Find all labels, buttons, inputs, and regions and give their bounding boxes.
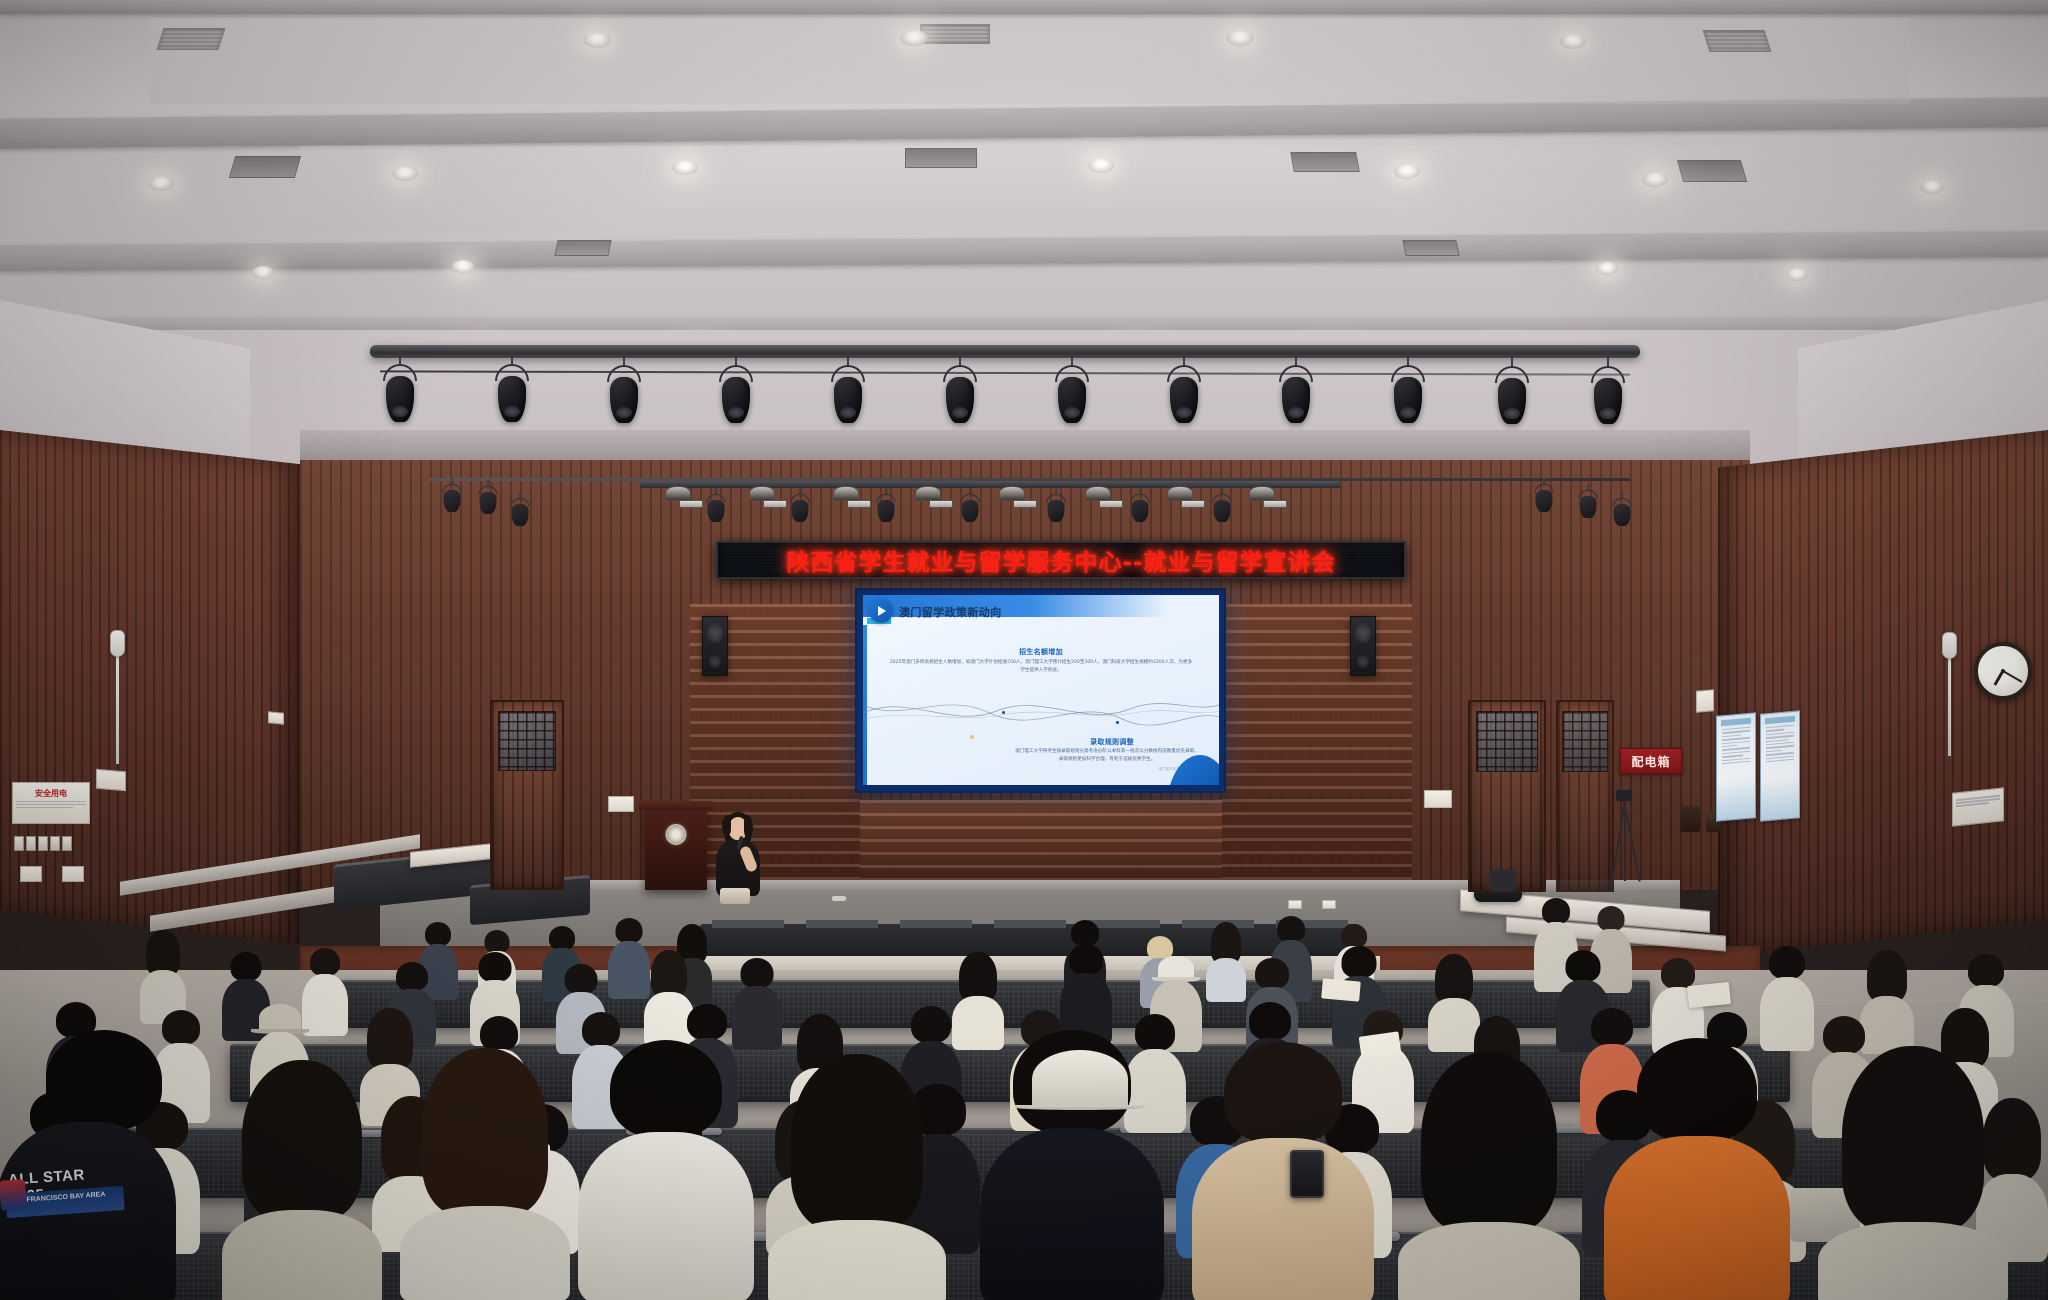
stage-wood-slats-right: [1222, 604, 1412, 880]
wall-speaker-left: [110, 630, 125, 657]
paper-handout: [1321, 978, 1361, 1001]
slide-title: 澳门留学政策新动向: [899, 604, 1002, 620]
ceiling-slab-1: [150, 18, 1910, 104]
ac-grille: [229, 156, 301, 178]
slide-section-2-heading: 录取规则调整: [1029, 737, 1195, 747]
audience-member-foreground: [1818, 1046, 2008, 1300]
ac-grille: [1677, 160, 1747, 182]
right-notice-sign: [1952, 787, 2004, 826]
ceiling-downlight: [452, 260, 474, 273]
ceiling-downlight: [1226, 30, 1254, 46]
stage-small-sign-right: [1424, 790, 1452, 808]
audience-member-with-cap: [1020, 1050, 1140, 1160]
wall-speaker-right: [1942, 632, 1957, 659]
ac-grille: [1402, 240, 1459, 256]
info-poster-1: [1716, 712, 1756, 821]
ceiling-downlight: [1596, 262, 1618, 275]
stage-chair-row: [700, 924, 1360, 960]
stage-speaker-left: [702, 616, 728, 676]
ceiling-downlight: [1394, 164, 1420, 179]
wall-clock: [1974, 642, 2032, 700]
stage-outlet: [1288, 900, 1302, 909]
slide-section-1-body: 2025年澳门多所高校招生人数增加，如澳门大学计划招收700人，澳门理工大学预计…: [889, 659, 1193, 675]
ceiling-vent: [1702, 30, 1771, 52]
audience-member-foreground: [578, 1040, 754, 1300]
play-icon: [869, 599, 893, 623]
left-notice-sign: 安全用电: [12, 782, 90, 824]
audience-member: [732, 958, 782, 1048]
audience-member-foreground: [400, 1048, 570, 1300]
stage-chair-back: [806, 920, 878, 928]
camera-tripod: [1606, 790, 1642, 890]
ac-grille: [1290, 152, 1360, 172]
baseball-cap: [1032, 1050, 1128, 1108]
wall-outlet: [1696, 689, 1714, 713]
left-small-sign: [96, 769, 126, 792]
ceiling-downlight: [1560, 34, 1586, 49]
stage-speaker-right: [1350, 616, 1376, 676]
truss-clamps: [370, 338, 1640, 348]
ceiling-downlight: [392, 166, 418, 181]
baseball-cap: [259, 1004, 301, 1032]
left-notice-sign-title: 安全用电: [13, 788, 89, 799]
lectern-top: [639, 801, 713, 810]
audience-member-foreground: [1604, 1038, 1790, 1300]
audience-member: [140, 930, 186, 1022]
wall-outlet-left: [268, 711, 284, 724]
lectern: [645, 806, 707, 890]
slide-section-2-body: 澳门理工大学将考生按录取规则分类考虑分阶公本科第一批次以分数线内前数量优先录取，…: [1013, 748, 1201, 764]
stage-outlet: [1322, 900, 1336, 909]
ceiling-downlight: [900, 30, 928, 46]
ceiling-downlight: [1786, 268, 1808, 281]
led-banner: 陕西省学生就业与留学服务中心--就业与留学宣讲会: [716, 541, 1406, 579]
ceiling-slab-2: [300, 146, 1760, 230]
stage-wood-slats-under-screen: [860, 800, 1222, 882]
stage-chair-back: [994, 920, 1066, 928]
slide-data-point: [1002, 711, 1005, 714]
front-truss-bar: [430, 478, 1630, 481]
presentation-slide: 澳门留学政策新动向 招生名额增加 2025年澳门多所高校招生人数增加，如澳门大学…: [863, 595, 1219, 785]
stage-door-right[interactable]: [1468, 700, 1546, 892]
speaker-pole-right: [1948, 656, 1951, 756]
audience-member-foreground: [1192, 1042, 1374, 1300]
ac-grille: [905, 148, 977, 168]
ceiling-downlight: [583, 32, 611, 48]
audience-member: [1760, 946, 1814, 1050]
bag: [1490, 870, 1516, 892]
ceiling-downlight: [1088, 158, 1114, 173]
ceiling-vent: [156, 28, 225, 50]
audience-member-foreground: [222, 1060, 382, 1300]
slide-data-point-amber: [970, 735, 974, 739]
lighting-truss-front: [640, 480, 1340, 488]
nba-logo-icon: [0, 1179, 27, 1211]
ceiling-downlight: [148, 176, 174, 191]
smartphone: [1290, 1150, 1324, 1198]
speaker-pole-left: [116, 654, 119, 764]
ceiling-downlight: [1920, 180, 1944, 194]
baseball-cap: [1158, 956, 1194, 980]
presenter: [712, 812, 764, 908]
stage-small-sign: [608, 796, 634, 812]
auditorium-scene: 陕西省学生就业与留学服务中心--就业与留学宣讲会 澳门留学政策新动向 招生名额增…: [0, 0, 2048, 1300]
audience-member: [1206, 922, 1246, 1000]
led-banner-text: 陕西省学生就业与留学服务中心--就业与留学宣讲会: [786, 543, 1335, 577]
ceiling-beam-top: [0, 0, 2048, 14]
projection-screen: 澳门留学政策新动向 招生名额增加 2025年澳门多所高校招生人数增加，如澳门大学…: [855, 588, 1226, 793]
audience-member-foreground: ALL STAR 2025 SAN FRANCISCO BAY AREA: [0, 1030, 180, 1300]
small-label-plate: [20, 866, 42, 882]
slide-data-point: [1116, 721, 1119, 724]
stage-door-left[interactable]: [490, 700, 564, 890]
ac-grille: [554, 240, 611, 256]
ceiling-downlight: [1642, 172, 1668, 187]
ceiling-downlight: [252, 266, 274, 279]
stage-chair-back: [900, 920, 972, 928]
university-crest-icon: [666, 824, 687, 845]
clock-minute-hand: [2003, 670, 2023, 683]
stage-chair-back: [712, 920, 784, 928]
audience-member-foreground: [1398, 1052, 1580, 1300]
audience-member-foreground: [768, 1054, 946, 1300]
stage-object: [832, 896, 846, 901]
slide-wave-decoration: [863, 683, 1219, 739]
ceiling-vent: [920, 24, 990, 44]
info-poster-2: [1760, 710, 1800, 821]
light-switch-bank[interactable]: [14, 836, 72, 851]
electrical-panel-sign: 配电箱: [1620, 748, 1682, 774]
slide-section-1-heading: 招生名额增加: [863, 647, 1219, 657]
small-label-plate: [62, 866, 84, 882]
notebook: [1687, 982, 1731, 1008]
ceiling-downlight: [672, 160, 698, 175]
bottle-on-table: [1680, 806, 1700, 832]
